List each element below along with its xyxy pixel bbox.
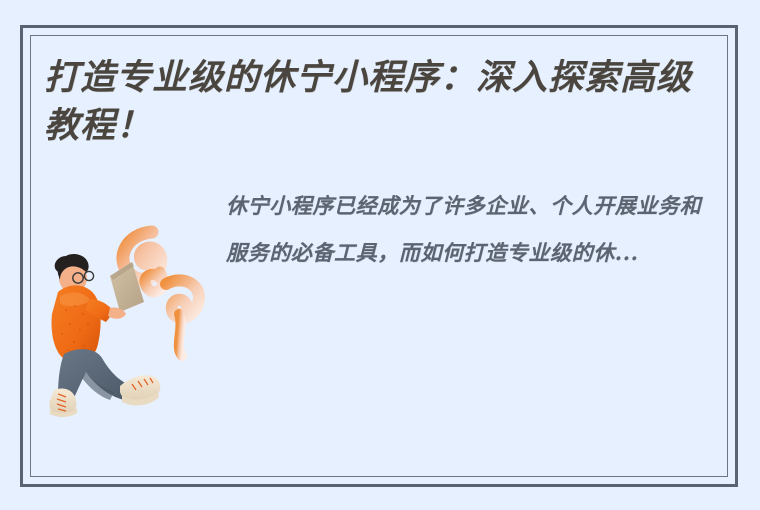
person-jumping-with-laptop-illustration (48, 214, 224, 420)
article-preview-card: 打造专业级的休宁小程序：深入探索高级教程！ 休宁小程序已经成为了许多企业、个人开… (0, 0, 760, 510)
article-excerpt: 休宁小程序已经成为了许多企业、个人开展业务和服务的必备工具，而如何打造专业级的休… (226, 182, 708, 276)
sneaker-right (120, 375, 160, 405)
article-headline: 打造专业级的休宁小程序：深入探索高级教程！ (44, 54, 716, 151)
